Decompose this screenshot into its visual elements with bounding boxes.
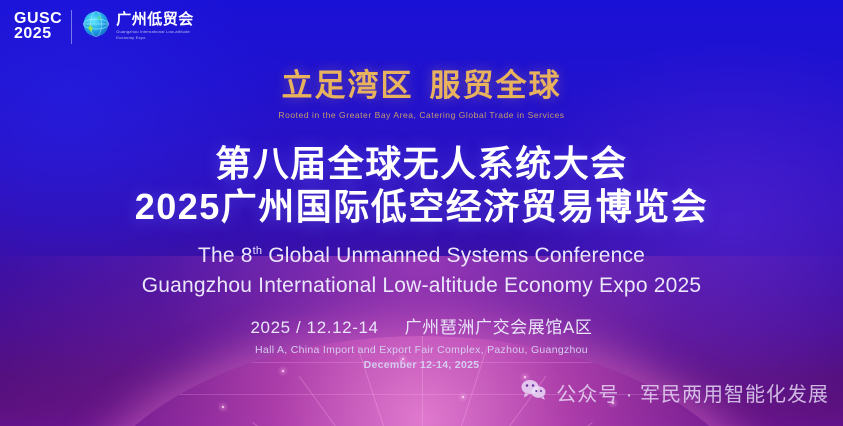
- header-logo-bar: GUSC 2025: [14, 9, 194, 44]
- partner-en-name: Guangzhou International Low-altitude Eco…: [116, 29, 194, 41]
- partner-logo: 广州低贸会 Guangzhou International Low-altitu…: [81, 9, 194, 44]
- event-date-en: December 12-14, 2025: [0, 359, 843, 371]
- subtitle-ordinal: th: [253, 245, 263, 257]
- event-date-row: 2025 / 12.12-14 广州琶洲广交会展馆A区: [0, 313, 843, 338]
- title-cn-line1: 第八届全球无人系统大会: [0, 143, 843, 185]
- partner-cn-name: 广州低贸会: [116, 12, 194, 27]
- wechat-icon: [521, 379, 547, 406]
- title-cn-line2: 2025广州国际低空经济贸易博览会: [0, 185, 843, 229]
- subtitle-post: Global Unmanned Systems Conference: [262, 244, 645, 267]
- subtitle-block: The 8th Global Unmanned Systems Conferen…: [0, 241, 843, 301]
- globe-icon: [81, 9, 111, 44]
- event-poster: GUSC 2025: [0, 0, 843, 426]
- main-title-block: 第八届全球无人系统大会 2025广州国际低空经济贸易博览会: [0, 143, 843, 229]
- subtitle-en-line2: Guangzhou International Low-altitude Eco…: [0, 271, 843, 301]
- tagline-cn: 立足湾区服贸全球: [0, 60, 843, 105]
- subtitle-en-line1: The 8th Global Unmanned Systems Conferen…: [0, 241, 843, 271]
- partner-brand-text: 广州低贸会 Guangzhou International Low-altitu…: [116, 12, 194, 41]
- gusc-wordmark: GUSC 2025: [14, 12, 62, 42]
- event-date-cn: 2025 / 12.12-14: [250, 318, 378, 338]
- event-venue-cn: 广州琶洲广交会展馆A区: [405, 313, 593, 338]
- logo-divider: [71, 10, 72, 44]
- wechat-watermark: 公众号 · 军民两用智能化发展: [521, 378, 829, 407]
- subtitle-pre: The 8: [198, 244, 253, 267]
- event-venue-en: Hall A, China Import and Export Fair Com…: [0, 344, 843, 356]
- event-info-block: 2025 / 12.12-14 广州琶洲广交会展馆A区 Hall A, Chin…: [0, 313, 843, 371]
- tagline-block: 立足湾区服贸全球 Rooted in the Greater Bay Area,…: [0, 60, 843, 120]
- tagline-cn-part1: 立足湾区: [282, 68, 414, 103]
- tagline-cn-part2: 服贸全球: [430, 68, 562, 103]
- gusc-line2: 2025: [14, 27, 62, 42]
- tagline-en: Rooted in the Greater Bay Area, Catering…: [0, 110, 843, 120]
- watermark-text: 公众号 · 军民两用智能化发展: [556, 378, 829, 407]
